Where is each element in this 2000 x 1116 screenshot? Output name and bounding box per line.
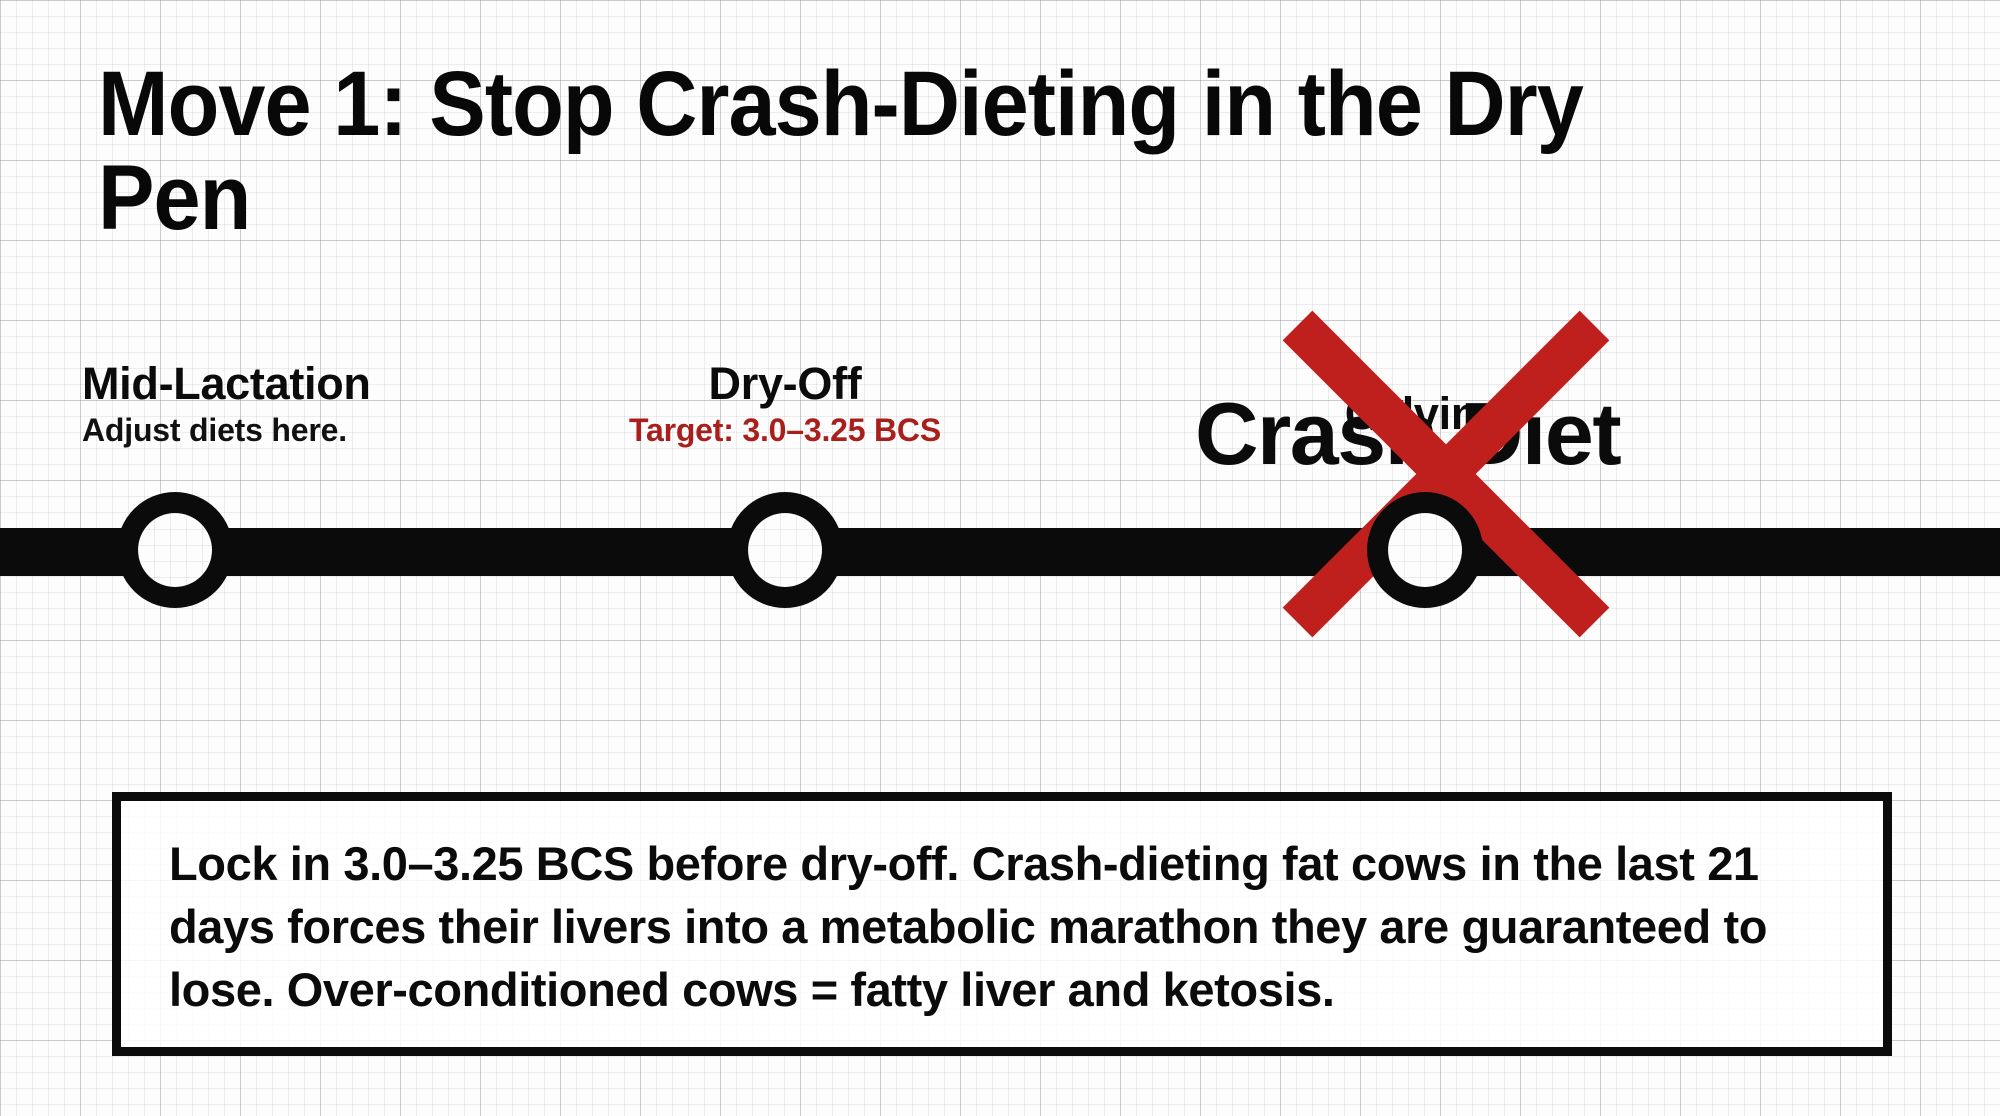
callout-box: Lock in 3.0–3.25 BCS before dry-off. Cra…: [112, 792, 1892, 1056]
stage-label: Mid-Lactation: [82, 360, 371, 408]
slide-canvas: Move 1: Stop Crash-Dieting in the Dry Pe…: [0, 0, 2000, 1116]
stage-label: Dry-Off: [629, 360, 941, 408]
stage-sublabel-target-bcs: Target: 3.0–3.25 BCS: [629, 412, 941, 450]
stage-sublabel: Adjust diets here.: [82, 412, 371, 450]
timeline-node-mid-lactation: [117, 492, 233, 608]
timeline-node-dry-off: [727, 492, 843, 608]
timeline-node-calving: [1367, 492, 1483, 608]
page-title: Move 1: Stop Crash-Dieting in the Dry Pe…: [98, 58, 1662, 246]
timeline-stage-dry-off: Dry-Off Target: 3.0–3.25 BCS: [629, 360, 941, 449]
timeline-stage-mid-lactation: Mid-Lactation Adjust diets here.: [82, 360, 371, 449]
callout-text: Lock in 3.0–3.25 BCS before dry-off. Cra…: [169, 833, 1847, 1022]
timeline-axis: [0, 528, 2000, 576]
